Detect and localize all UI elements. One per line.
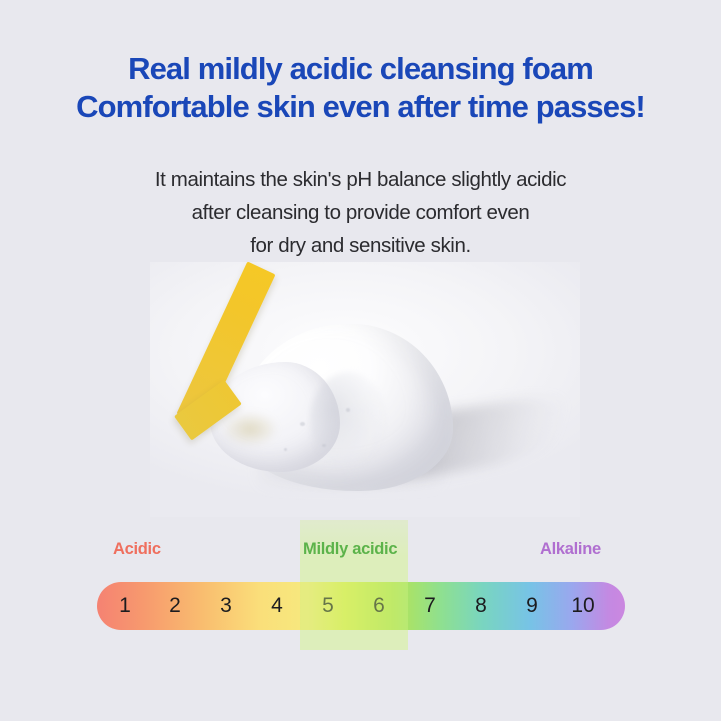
ph-number-6: 6	[355, 582, 403, 630]
page-title: Real mildly acidic cleansing foam Comfor…	[0, 50, 721, 126]
foam-texture-speck	[346, 408, 350, 412]
ph-number-5: 5	[304, 582, 352, 630]
headline-line-1: Real mildly acidic cleansing foam	[0, 50, 721, 88]
headline-line-2: Comfortable skin even after time passes!	[0, 88, 721, 126]
ph-label-acidic: Acidic	[113, 540, 161, 559]
foam-crease	[310, 372, 386, 468]
ph-number-4: 4	[253, 582, 301, 630]
ph-label-alkaline: Alkaline	[540, 540, 601, 559]
ph-label-mildly-acidic: Mildly acidic	[303, 540, 397, 559]
product-photo	[150, 262, 580, 517]
description-text: It maintains the skin's pH balance sligh…	[0, 163, 721, 262]
ph-number-7: 7	[406, 582, 454, 630]
ph-number-10: 10	[559, 582, 607, 630]
infographic-page: Real mildly acidic cleansing foam Comfor…	[0, 0, 721, 721]
ph-number-2: 2	[151, 582, 199, 630]
ph-number-1: 1	[101, 582, 149, 630]
description-line-1: It maintains the skin's pH balance sligh…	[0, 163, 721, 196]
foam-texture-speck	[322, 444, 326, 447]
foam-texture-speck	[300, 422, 305, 426]
ph-number-3: 3	[202, 582, 250, 630]
ph-bar-numbers: 1 2 3 4 5 6 7 8 9 10	[97, 582, 625, 630]
ph-number-9: 9	[508, 582, 556, 630]
strip-contact-shadow	[222, 412, 278, 446]
description-line-3: for dry and sensitive skin.	[0, 229, 721, 262]
foam-texture-speck	[284, 448, 287, 451]
description-line-2: after cleansing to provide comfort even	[0, 196, 721, 229]
ph-number-8: 8	[457, 582, 505, 630]
ph-gradient-bar: 1 2 3 4 5 6 7 8 9 10	[97, 582, 625, 630]
ph-scale-labels: Acidic Mildly acidic Alkaline	[0, 540, 721, 566]
